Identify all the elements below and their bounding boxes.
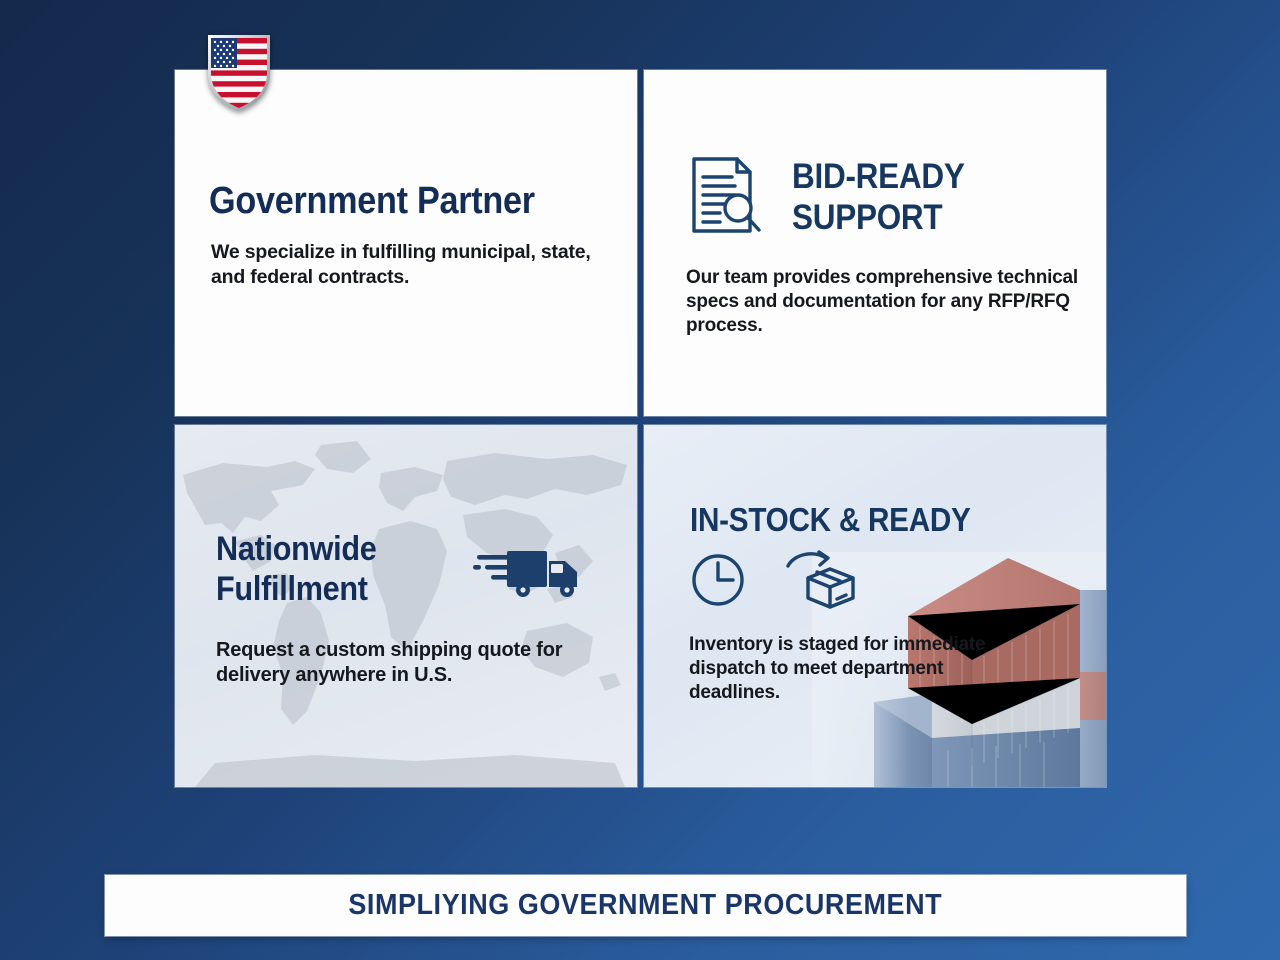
card-bid-ready-support[interactable]: BID-READY SUPPORT Our team provides comp…	[644, 70, 1106, 416]
card-icon-row	[690, 550, 890, 610]
card-title-line1: BID-READY	[792, 156, 965, 197]
box-rotate-arrow-icon	[788, 552, 853, 607]
card-in-stock-and-ready[interactable]: IN-STOCK & READY Inventory is staged for…	[644, 425, 1106, 787]
card-title-line1: Nationwide	[216, 529, 377, 569]
banner-headline: SIMPLIYING GOVERNMENT PROCUREMENT	[349, 889, 943, 922]
feature-card-grid: Government Partner We specialize in fulf…	[175, 70, 1106, 787]
card-description: Inventory is staged for immediate dispat…	[689, 633, 1024, 705]
card-description: Request a custom shipping quote for deli…	[216, 638, 614, 688]
card-title-line2: Fulfillment	[216, 569, 377, 609]
card-title: BID-READY SUPPORT	[792, 156, 965, 238]
document-magnifier-icon	[688, 155, 764, 237]
card-title: IN-STOCK & READY	[690, 501, 971, 539]
card-government-partner[interactable]: Government Partner We specialize in fulf…	[175, 70, 637, 416]
clock-icon	[694, 556, 742, 604]
card-title: Government Partner	[209, 180, 535, 223]
delivery-truck-icon	[473, 545, 583, 599]
bottom-banner: SIMPLIYING GOVERNMENT PROCUREMENT	[105, 875, 1186, 936]
card-description: We specialize in fulfilling municipal, s…	[211, 240, 621, 289]
usa-flag-shield-icon	[207, 33, 271, 111]
card-title: Nationwide Fulfillment	[216, 529, 377, 609]
card-title-line2: SUPPORT	[792, 197, 965, 238]
card-description: Our team provides comprehensive technica…	[686, 266, 1086, 338]
card-nationwide-fulfillment[interactable]: Nationwide Fulfillment Request a custom …	[175, 425, 637, 787]
